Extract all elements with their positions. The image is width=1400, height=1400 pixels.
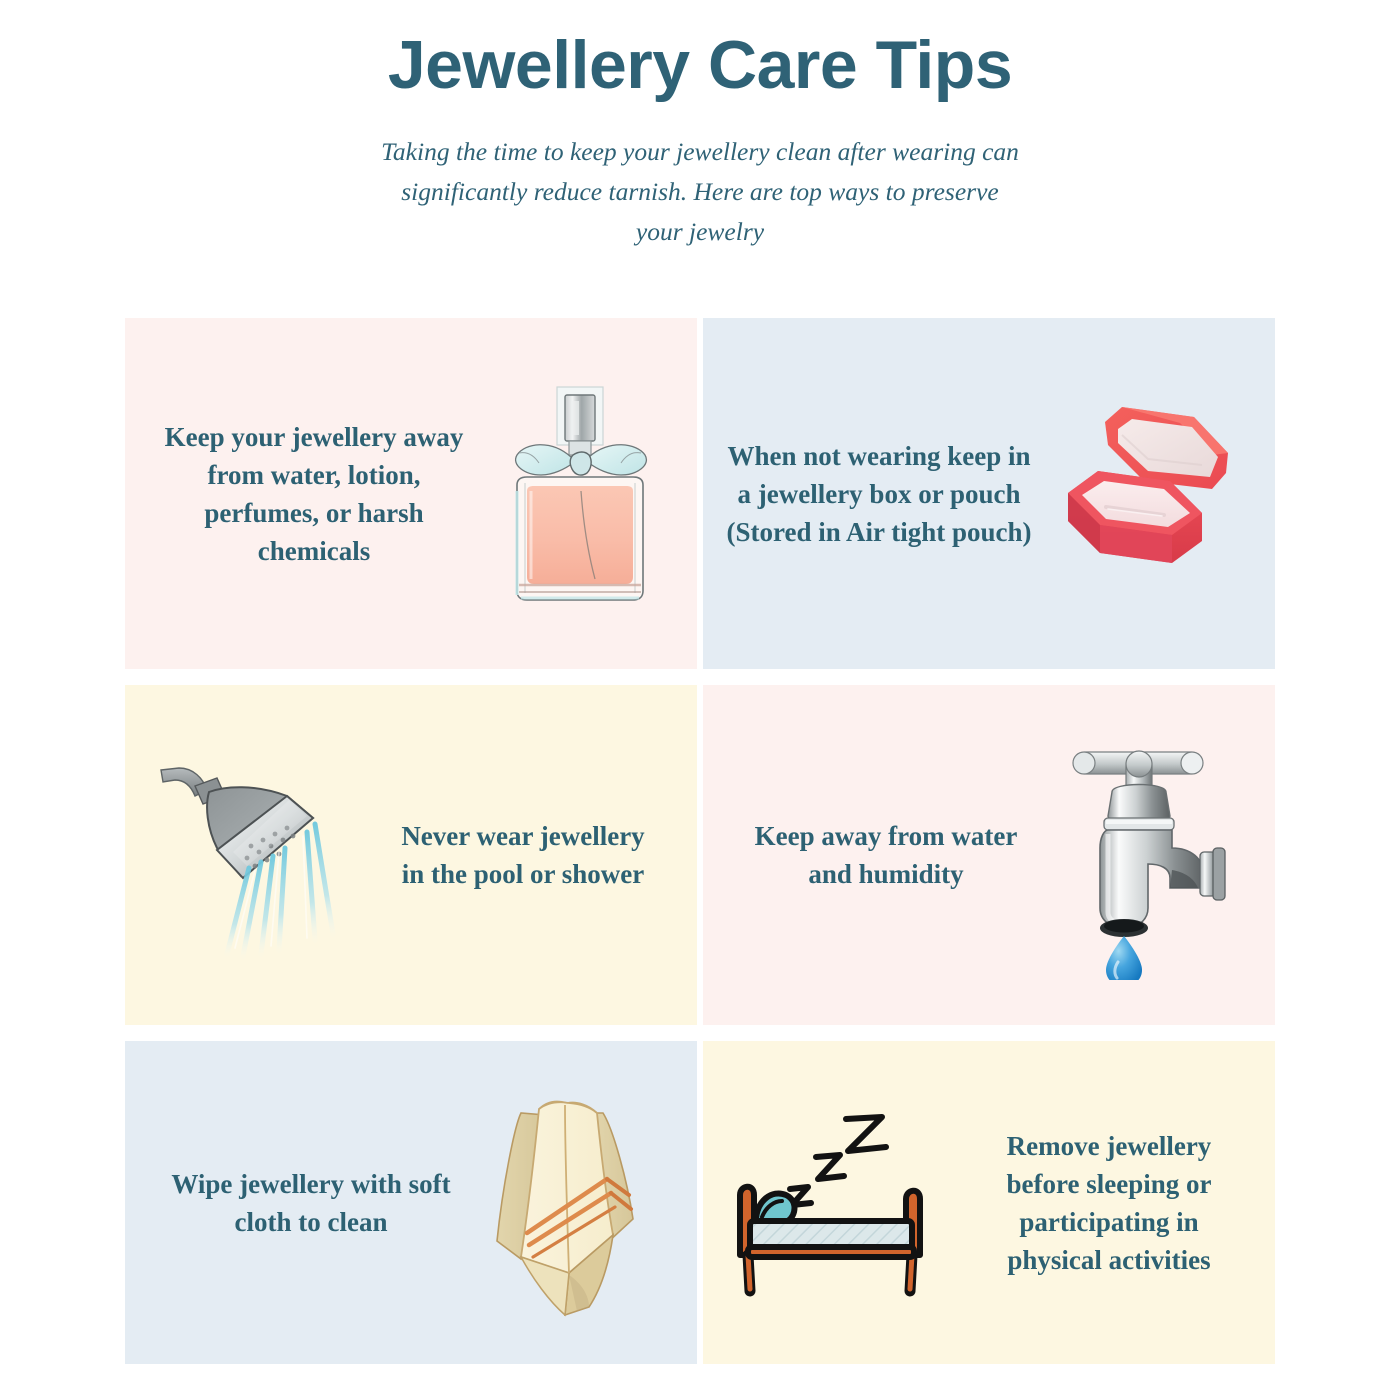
page-title: Jewellery Care Tips bbox=[0, 22, 1400, 108]
faucet-drip-icon bbox=[1035, 730, 1265, 980]
tip-card-3-text: Never wear jewellery in the pool or show… bbox=[377, 817, 669, 893]
tips-grid: Keep your jewellery away from water, lot… bbox=[125, 318, 1275, 1364]
perfume-bottle-icon bbox=[485, 379, 675, 609]
tip-card-5-text: Wipe jewellery with soft cloth to clean bbox=[155, 1165, 467, 1241]
shower-head-icon bbox=[147, 748, 377, 963]
tip-card-4: Keep away from water and humidity bbox=[703, 685, 1275, 1025]
page-subtitle: Taking the time to keep your jewellery c… bbox=[380, 132, 1020, 252]
tip-card-3: Never wear jewellery in the pool or show… bbox=[125, 685, 697, 1025]
tip-card-4-text: Keep away from water and humidity bbox=[737, 817, 1035, 893]
cloth-icon bbox=[467, 1083, 667, 1323]
tip-card-5: Wipe jewellery with soft cloth to clean bbox=[125, 1041, 697, 1364]
tip-card-6: Remove jewellery before sleeping or part… bbox=[703, 1041, 1275, 1364]
bed-sleep-icon bbox=[715, 1103, 965, 1303]
infographic-page: Jewellery Care Tips Taking the time to k… bbox=[0, 0, 1400, 1400]
tip-card-2: When not wearing keep in a jewellery box… bbox=[703, 318, 1275, 669]
tip-card-2-text: When not wearing keep in a jewellery box… bbox=[711, 437, 1047, 551]
ring-box-icon bbox=[1047, 389, 1257, 599]
header: Jewellery Care Tips Taking the time to k… bbox=[0, 0, 1400, 252]
tip-card-1-text: Keep your jewellery away from water, lot… bbox=[143, 418, 485, 570]
tip-card-6-text: Remove jewellery before sleeping or part… bbox=[965, 1127, 1253, 1279]
tip-card-1: Keep your jewellery away from water, lot… bbox=[125, 318, 697, 669]
